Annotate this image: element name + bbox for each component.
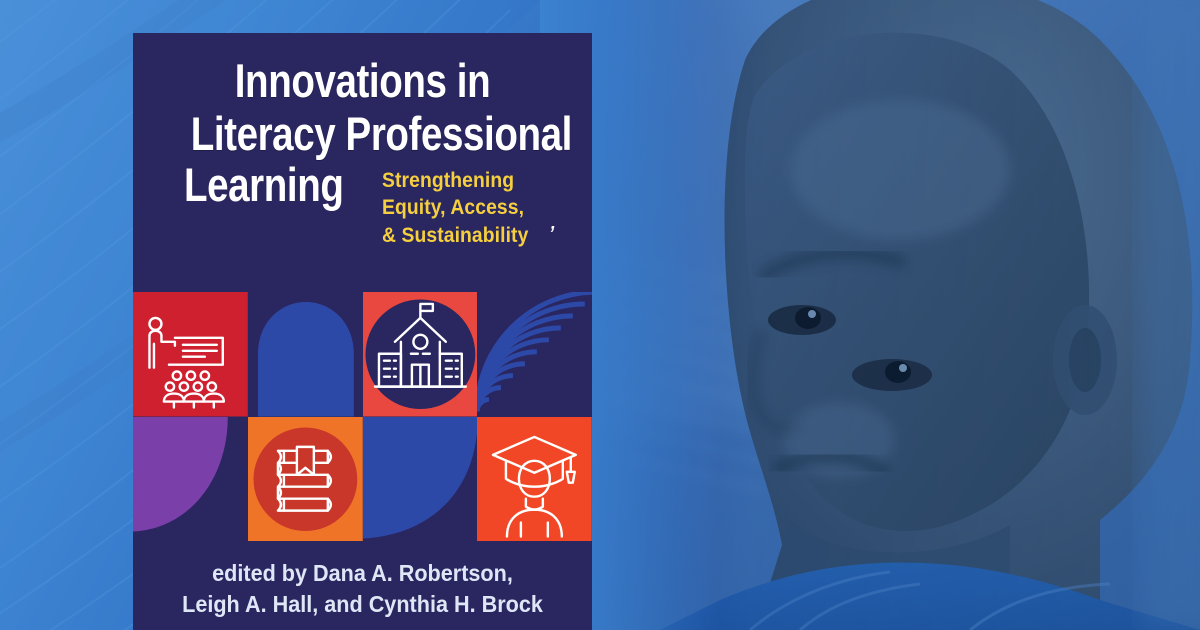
- grid-cell-books: [248, 417, 363, 542]
- book-authors: edited by Dana A. Robertson, Leigh A. Ha…: [147, 558, 578, 620]
- graduate-student-icon: [477, 417, 592, 542]
- book-cover: Innovations in Literacy Professional Lea…: [133, 33, 592, 630]
- book-title: Innovations in Literacy Professional: [191, 57, 535, 157]
- cover-icon-grid: [133, 292, 592, 541]
- grid-cell-graduate: [477, 417, 592, 542]
- school-building-icon: [363, 292, 478, 417]
- grid-cell-blue-arch: [248, 292, 363, 417]
- author-line-1: edited by Dana A. Robertson,: [147, 558, 578, 589]
- grid-cell-purple: [133, 417, 248, 542]
- blue-quarter-circle-shape: [363, 417, 478, 542]
- subtitle-line-2: Equity, Access,: [382, 194, 528, 221]
- title-line-1: Innovations in: [191, 57, 535, 104]
- cover-text-block: Innovations in Literacy Professional Lea…: [133, 33, 592, 249]
- book-subtitle: Strengthening Equity, Access, & Sustaina…: [382, 167, 528, 249]
- subtitle-line-3: & Sustainability: [382, 222, 528, 249]
- grid-cell-blue-quarter: [363, 417, 478, 542]
- subtitle-apostrophe-mark: ’: [549, 221, 554, 247]
- student-portrait-photo: [540, 0, 1200, 630]
- author-line-2: Leigh A. Hall, and Cynthia H. Brock: [147, 589, 578, 620]
- subtitle-line-1: Strengthening: [382, 167, 528, 194]
- stacked-books-icon: [248, 417, 363, 542]
- promo-banner: Innovations in Literacy Professional Lea…: [0, 0, 1200, 630]
- concentric-arcs-shape: [477, 292, 592, 417]
- grid-cell-arcs: [477, 292, 592, 417]
- grid-cell-teacher: [133, 292, 248, 417]
- title-subtitle-row: Learning Strengthening Equity, Access, &…: [153, 161, 572, 249]
- title-line-3: Learning: [184, 161, 343, 208]
- title-line-2: Literacy Professional: [191, 110, 535, 157]
- teacher-classroom-icon: [133, 292, 248, 417]
- grid-cell-school: [363, 292, 478, 417]
- purple-quarter-circle-shape: [133, 417, 248, 542]
- blue-arch-shape: [248, 292, 363, 417]
